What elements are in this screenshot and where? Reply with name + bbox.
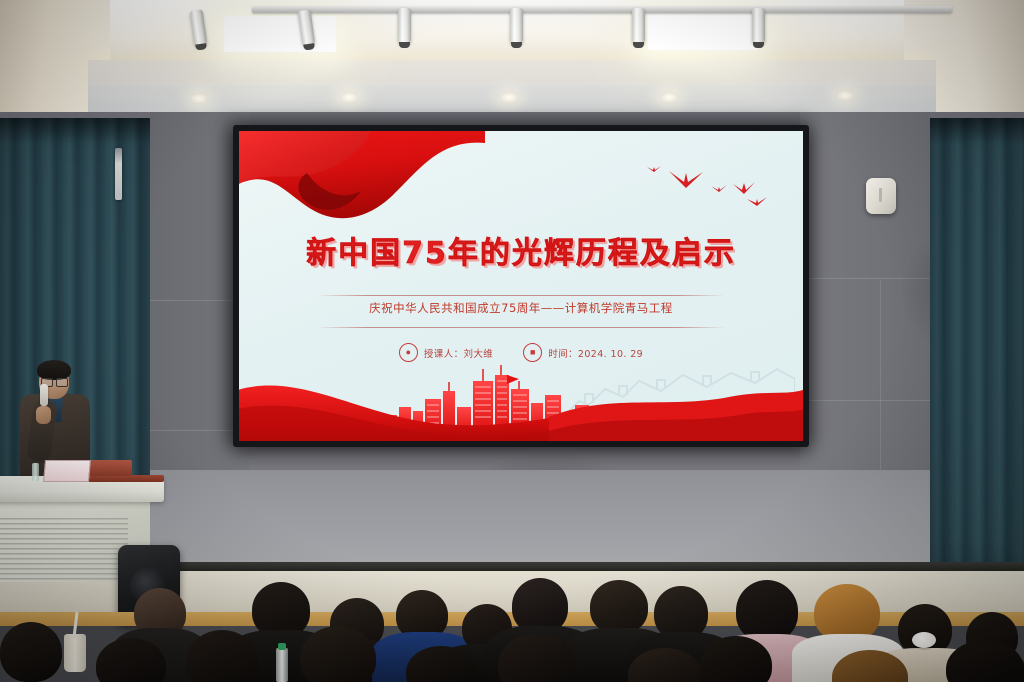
slide-title: 新中国75年的光辉历程及启示 — [239, 228, 803, 272]
water-bottle-audience — [276, 648, 288, 682]
recessed-downlight-1 — [190, 93, 208, 104]
presenter-hair — [37, 360, 71, 380]
presenter-label: 授课人：刘大维 — [424, 346, 493, 360]
hair-clip — [912, 632, 936, 648]
projection-screen[interactable]: 新中国75年的光辉历程及启示 庆祝中华人民共和国成立75周年——计算机学院青马工… — [233, 125, 809, 447]
bird-icon — [747, 197, 767, 207]
bird-icon — [669, 171, 703, 189]
lecture-hall-scene: 新中国75年的光辉历程及启示 庆祝中华人民共和国成立75周年——计算机学院青马工… — [0, 0, 1024, 682]
divider-top — [317, 295, 725, 296]
stage-front-wall — [150, 470, 930, 566]
recessed-downlight-5 — [836, 90, 854, 101]
slide-subtitle: 庆祝中华人民共和国成立75周年——计算机学院青马工程 — [239, 300, 803, 316]
bird-icon — [733, 181, 755, 195]
audience-head — [736, 580, 798, 642]
red-silk-ribbon-bottom-right-icon — [549, 375, 803, 441]
microphone-icon — [40, 384, 48, 406]
presenter-hand — [36, 406, 51, 424]
bird-icon — [647, 165, 661, 174]
track-spotlight-6 — [752, 8, 765, 44]
recessed-downlight-2 — [340, 92, 358, 103]
audience-head — [0, 622, 62, 682]
audience-head — [590, 580, 648, 634]
recessed-downlight-4 — [660, 92, 678, 103]
ceiling-mounted-bracket-icon — [115, 148, 122, 200]
podium-trim — [86, 475, 164, 482]
drink-cup — [64, 634, 86, 672]
curtain-right — [930, 118, 1024, 573]
divider-bottom — [317, 327, 725, 328]
recessed-downlight-3 — [500, 92, 518, 103]
track-spotlight-3 — [398, 8, 411, 44]
water-bottle-podium — [32, 463, 39, 481]
track-spotlight-4 — [510, 8, 523, 44]
confidence-monitor[interactable] — [43, 460, 91, 482]
wall-tile-seam — [800, 400, 930, 401]
audience-head — [300, 626, 376, 682]
wireless-access-point-icon — [866, 178, 896, 214]
bird-icon — [711, 185, 727, 193]
presentation-slide: 新中国75年的光辉历程及启示 庆祝中华人民共和国成立75周年——计算机学院青马工… — [239, 131, 803, 441]
podium-vents — [0, 518, 128, 580]
date-label: 时间：2024. 10. 29 — [548, 346, 643, 360]
curtain-shadow-right — [930, 118, 1024, 144]
podium-rail — [88, 460, 132, 476]
track-spotlight-5 — [632, 8, 645, 44]
ceiling-track-rail — [252, 6, 952, 13]
ceiling-panel-light-2 — [648, 14, 758, 50]
curtain-shadow-left — [0, 118, 150, 144]
ceiling-panel-light-1 — [224, 16, 336, 52]
